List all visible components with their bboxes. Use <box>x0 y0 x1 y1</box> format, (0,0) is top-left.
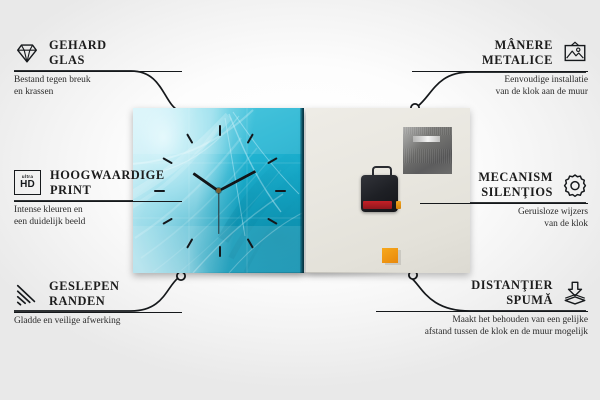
callout-title: GESLEPEN <box>49 279 120 294</box>
clock-tick <box>186 238 193 249</box>
clock-tick <box>246 133 253 144</box>
callout-description: Gladde en veilige afwerking <box>14 316 182 327</box>
callout-manere-metalice: MÂNERE METALICE Eenvoudige installatie v… <box>412 38 588 98</box>
clock-second-hand <box>218 191 219 234</box>
clock-tick <box>219 246 221 257</box>
clock-tick <box>275 190 286 192</box>
callout-geslepen-randen: GESLEPEN RANDEN Gladde en veilige afwerk… <box>14 279 182 328</box>
clock-tick <box>246 238 253 249</box>
callout-title-line2: RANDEN <box>49 294 120 309</box>
diamond-icon <box>14 40 40 66</box>
callout-rule <box>420 203 588 204</box>
callout-description: Eenvoudige installatie van de klok aan d… <box>412 75 588 98</box>
ultra-hd-icon: ultra HD <box>14 170 41 195</box>
callout-description: Bestand tegen breuk en krassen <box>14 75 182 98</box>
callout-title: DISTANŢIER <box>471 278 553 293</box>
callout-rule <box>376 311 588 312</box>
clock-tick <box>186 133 193 144</box>
callout-title: GEHARD <box>49 38 107 53</box>
infographic-canvas: GEHARD GLAS Bestand tegen breuk en krass… <box>0 0 600 400</box>
callout-title-line2: GLAS <box>49 53 107 68</box>
callout-rule <box>14 312 182 313</box>
callout-title: MECANISM <box>478 170 553 185</box>
spacer-down-arrow-icon <box>562 280 588 306</box>
callout-description: Intense kleuren en een duidelijk beeld <box>14 205 182 228</box>
metal-plate-label <box>413 136 440 142</box>
callout-distantier-spuma: DISTANŢIER SPUMĂ Maakt het behouden van … <box>376 278 588 338</box>
callout-title-line2: SILENŢIOS <box>478 185 553 200</box>
battery <box>363 201 392 209</box>
quartz-movement <box>361 175 398 212</box>
clock-tick <box>267 157 278 164</box>
callout-title: MÂNERE <box>482 38 553 53</box>
callout-description: Maakt het behouden van een gelijke afsta… <box>376 315 588 338</box>
picture-frame-hook-icon <box>562 40 588 66</box>
bevelled-edges-icon <box>14 281 40 307</box>
callout-mecanism-silentios: MECANISM SILENŢIOS Geruisloze wijzers va… <box>420 170 588 230</box>
battery-contact <box>396 201 401 209</box>
callout-title: HOOGWAARDIGE <box>50 168 165 183</box>
clock-tick <box>162 157 173 164</box>
callout-rule <box>14 201 182 202</box>
clock-tick <box>267 217 278 224</box>
gear-icon <box>562 172 588 198</box>
callout-title-line2: METALICE <box>482 53 553 68</box>
clock-center-pin <box>216 188 221 193</box>
callout-hoogwaardige-print: ultra HD HOOGWAARDIGE PRINT Intense kleu… <box>14 168 182 228</box>
callout-title-line2: PRINT <box>50 183 165 198</box>
callout-gehard-glas: GEHARD GLAS Bestand tegen breuk en krass… <box>14 38 182 98</box>
callout-title-line2: SPUMĂ <box>471 293 553 308</box>
callout-rule <box>412 71 588 72</box>
clock-tick <box>219 125 221 136</box>
callout-rule <box>14 71 182 72</box>
ultra-hd-icon-large-text: HD <box>20 180 35 190</box>
foam-spacer <box>382 248 398 263</box>
callout-description: Geruisloze wijzers van de klok <box>420 207 588 230</box>
clock-minute-hand <box>218 169 256 191</box>
clock-bevelled-edge <box>300 108 304 273</box>
metal-plate <box>403 127 452 174</box>
